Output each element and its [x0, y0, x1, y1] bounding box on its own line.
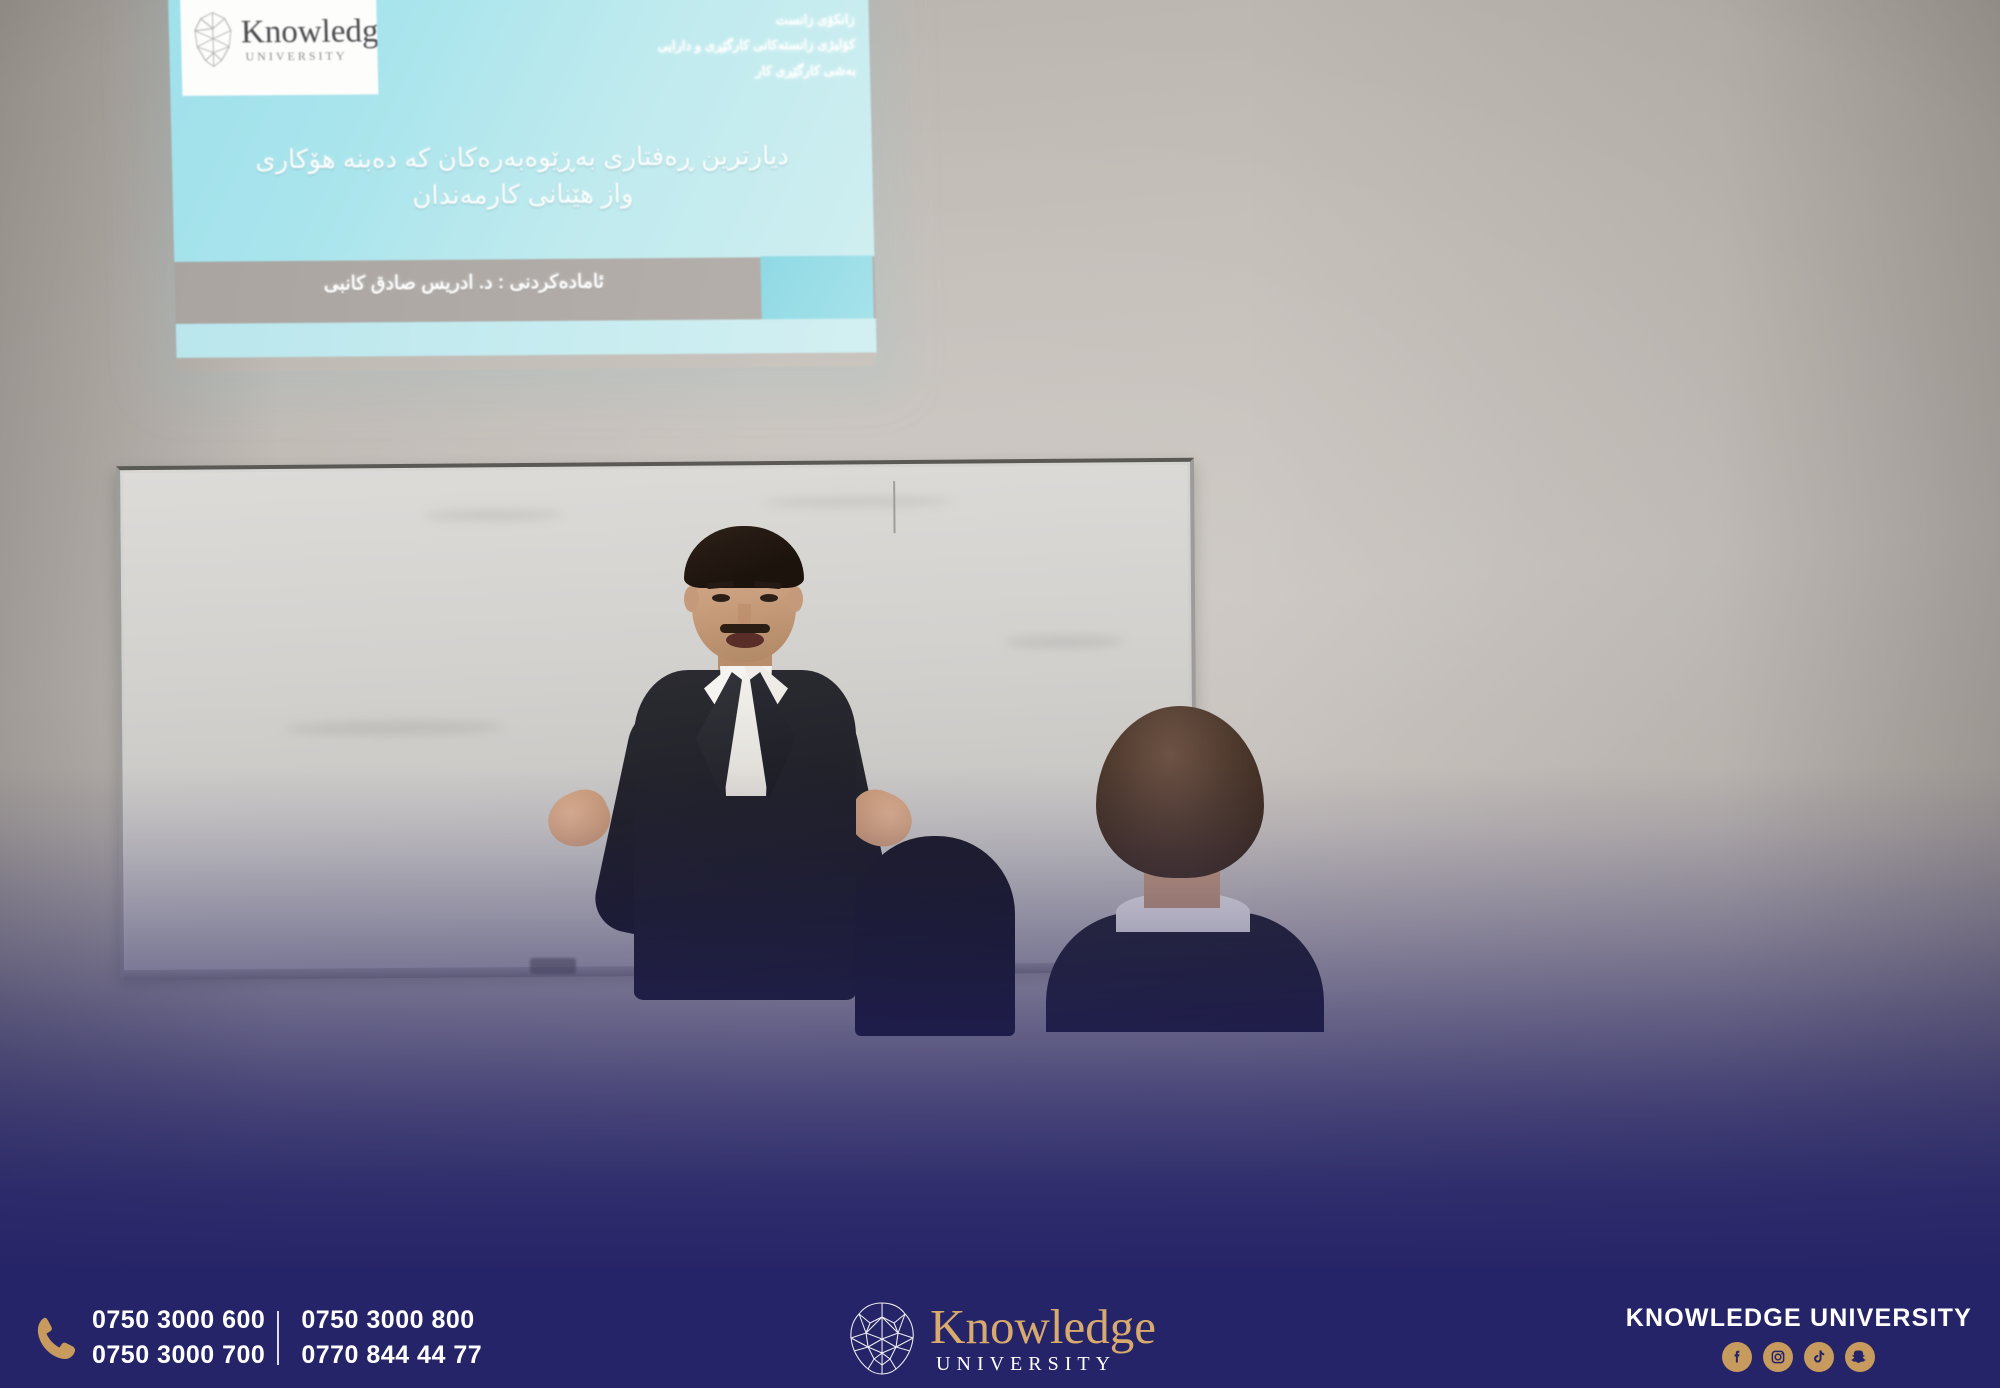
slide-header-line-1: زانكۆى زانست — [657, 7, 855, 34]
phone-column-right: 0750 3000 800 0770 844 44 77 — [281, 1303, 482, 1374]
slide-footer-strip — [176, 318, 877, 357]
footer-logo[interactable]: Knowledge UNIVERSITY — [844, 1299, 1156, 1377]
footer-brand-block: KNOWLEDGE UNIVERSITY — [1626, 1304, 1972, 1372]
footer-logo-word: Knowledge — [930, 1302, 1156, 1351]
presenter-eye-right — [760, 594, 778, 602]
presenter-eye-left — [712, 594, 730, 602]
projected-slide: Knowledge UNIVERSITY زانكۆى زانست كۆليژى… — [168, 0, 877, 372]
audience-chair — [855, 836, 1015, 1036]
presenter-ear-left — [684, 586, 699, 612]
slide-title-line-2: واز هێنانی کارمەندان — [182, 173, 863, 215]
brain-network-icon — [186, 8, 239, 70]
presenter-moustache — [720, 624, 770, 633]
slide-accent-box — [760, 255, 873, 319]
presenter-mouth — [726, 632, 764, 648]
presenter-nose — [738, 604, 751, 626]
phone-number[interactable]: 0750 3000 700 — [92, 1338, 265, 1374]
footer-logo-text: Knowledge UNIVERSITY — [930, 1302, 1156, 1374]
instagram-icon[interactable] — [1763, 1342, 1793, 1372]
whiteboard-smudge — [763, 497, 953, 507]
slide-presenter-band: ئامادەکردنی : د. ادریس صادق کانبی — [174, 256, 876, 323]
slide-presenter-label: ئامادەکردنی : د. ادریس صادق کانبی — [175, 269, 754, 297]
slide-logo-word: Knowledge — [241, 15, 379, 49]
slide-logo-sub: UNIVERSITY — [245, 49, 378, 62]
audience-member — [1058, 706, 1308, 1006]
audience-head — [1096, 706, 1264, 878]
event-photo: Knowledge UNIVERSITY زانكۆى زانست كۆليژى… — [0, 0, 2000, 1388]
snapchat-icon[interactable] — [1845, 1342, 1875, 1372]
social-links — [1722, 1342, 1875, 1372]
brain-network-icon — [844, 1299, 920, 1377]
slide-title: دیارترین ڕەفتاری بەڕێوەبەرەکان کە دەبنە … — [181, 137, 863, 216]
brand-title: KNOWLEDGE UNIVERSITY — [1626, 1304, 1972, 1333]
phone-icon — [34, 1314, 78, 1362]
slide-header-line-3: بەشى كارگێڕى كار — [658, 57, 856, 84]
footer-contact-block: 0750 3000 600 0750 3000 700 0750 3000 80… — [34, 1303, 594, 1374]
presenter-ear-right — [788, 586, 803, 612]
phone-divider — [277, 1311, 279, 1365]
slide-logo-text: Knowledge UNIVERSITY — [241, 15, 379, 62]
slide-title-line-1: دیارترین ڕەفتاری بەڕێوەبەرەکان کە دەبنە … — [181, 137, 862, 179]
slide-body: Knowledge UNIVERSITY زانكۆى زانست كۆليژى… — [168, 0, 874, 262]
phone-numbers: 0750 3000 600 0750 3000 700 0750 3000 80… — [92, 1303, 482, 1374]
screenshot-root: Knowledge UNIVERSITY زانكۆى زانست كۆليژى… — [0, 0, 2000, 1388]
phone-number[interactable]: 0750 3000 800 — [281, 1303, 482, 1339]
facebook-icon[interactable] — [1722, 1342, 1752, 1372]
phone-number[interactable]: 0770 844 44 77 — [281, 1338, 482, 1374]
phone-column-left: 0750 3000 600 0750 3000 700 — [92, 1303, 265, 1374]
slide-logo-box: Knowledge UNIVERSITY — [180, 0, 379, 96]
footer-bar: 0750 3000 600 0750 3000 700 0750 3000 80… — [0, 1288, 2000, 1388]
slide-header-line-2: كۆليژى زانستەكانى كارگێڕى و دارايى — [657, 32, 855, 59]
footer-logo-sub: UNIVERSITY — [936, 1354, 1156, 1374]
whiteboard-smudge — [285, 720, 505, 736]
presenter-hair — [684, 526, 804, 588]
tiktok-icon[interactable] — [1804, 1342, 1834, 1372]
slide-header-lines: زانكۆى زانست كۆليژى زانستەكانى كارگێڕى و… — [657, 7, 857, 85]
whiteboard-smudge — [1004, 635, 1124, 648]
phone-number[interactable]: 0750 3000 600 — [92, 1303, 265, 1339]
